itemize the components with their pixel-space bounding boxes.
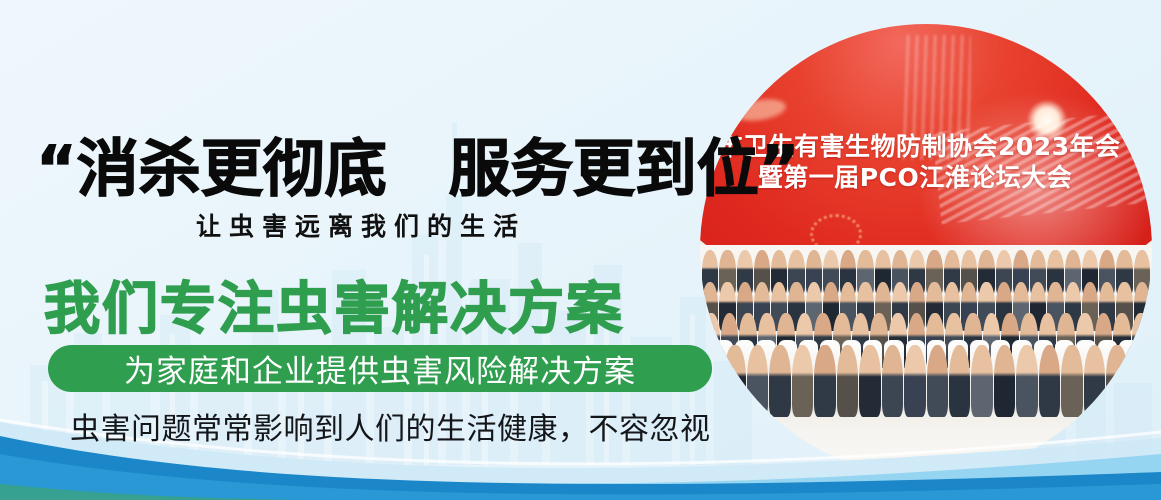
- crowd-row-front: [700, 345, 1152, 417]
- crowd-person: [1016, 345, 1037, 417]
- crowd-person: [859, 345, 880, 417]
- service-pill-text: 为家庭和企业提供虫害风险解决方案: [124, 346, 636, 391]
- crowd-person: [814, 345, 835, 417]
- crowd-person: [1061, 345, 1082, 417]
- tagline-text: 虫害问题常常影响到人们的生活健康，不容忽视: [70, 404, 711, 448]
- crowd-person: [1039, 345, 1060, 417]
- crowd-person: [882, 345, 903, 417]
- crowd-person: [1129, 345, 1150, 417]
- crowd-person: [1084, 345, 1105, 417]
- green-headline: 我们专注虫害解决方案: [44, 264, 624, 345]
- page-title: “消杀更彻底 服务更到位”: [36, 118, 800, 208]
- sub-headline: 让虫害远离我们的生活: [196, 207, 526, 243]
- crowd-person: [837, 345, 858, 417]
- crowd-person: [1106, 345, 1127, 417]
- crowd-person: [994, 345, 1015, 417]
- crowd-person: [724, 345, 745, 417]
- promo-banner: 市卫生有害生物防制协会2023年会 暨第一届PCO江淮论坛大会 “消杀更彻底 服…: [0, 0, 1161, 500]
- crowd-person: [949, 345, 970, 417]
- crowd-person: [904, 345, 925, 417]
- crowd-person: [927, 345, 948, 417]
- crowd-person: [769, 345, 790, 417]
- crowd-person: [792, 345, 813, 417]
- conference-photo: 市卫生有害生物防制协会2023年会 暨第一届PCO江淮论坛大会: [700, 24, 1152, 476]
- crowd-person: [747, 345, 768, 417]
- crowd-person: [971, 345, 992, 417]
- service-pill-banner: 为家庭和企业提供虫害风险解决方案: [48, 345, 712, 392]
